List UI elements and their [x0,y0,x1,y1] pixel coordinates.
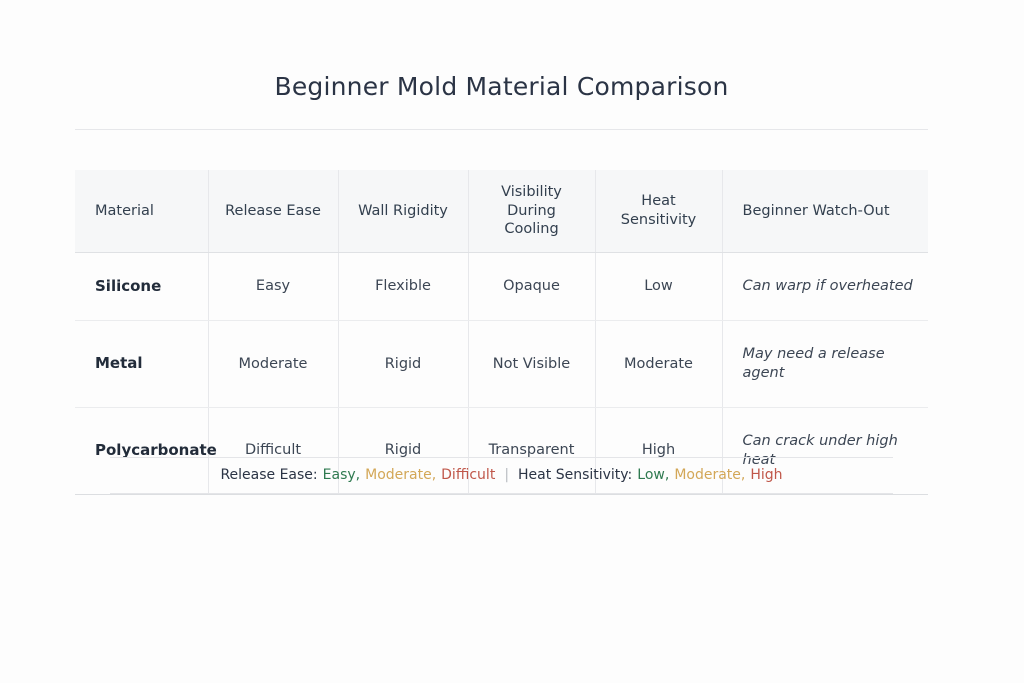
cell-wall-rigidity: Rigid [338,321,468,408]
legend-heat-sensitivity-label: Heat Sensitivity: [518,467,632,483]
legend-swatch-moderate-release: Moderate, [365,467,436,483]
column-header-heat-line1: Heat [641,193,675,209]
table-header-row: Material Release Ease Wall Rigidity Visi… [75,170,928,252]
comparison-table-container: Material Release Ease Wall Rigidity Visi… [75,170,928,495]
column-header-visibility-line1: Visibility [501,184,562,200]
cell-wall-rigidity: Flexible [338,252,468,321]
cell-material: Metal [75,321,208,408]
legend-separator: | [495,467,518,483]
cell-release-ease: Easy [208,252,338,321]
column-header-release-ease: Release Ease [208,170,338,252]
comparison-table: Material Release Ease Wall Rigidity Visi… [75,170,928,495]
legend-swatch-moderate-heat: Moderate, [674,467,745,483]
cell-heat-sensitivity: Moderate [595,321,722,408]
column-header-visibility-line2: During Cooling [504,203,558,238]
page-title: Beginner Mold Material Comparison [75,72,928,102]
legend-swatch-high: High [750,467,782,483]
column-header-wall-rigidity: Wall Rigidity [338,170,468,252]
cell-heat-sensitivity: Low [595,252,722,321]
cell-visibility: Not Visible [468,321,595,408]
legend-swatch-easy: Easy, [323,467,360,483]
column-header-heat-sensitivity: HeatSensitivity [595,170,722,252]
cell-watch-out: May need a release agent [722,321,928,408]
column-header-heat-line2: Sensitivity [621,212,697,228]
cell-visibility: Opaque [468,252,595,321]
cell-watch-out: Can warp if overheated [722,252,928,321]
column-header-visibility: VisibilityDuring Cooling [468,170,595,252]
legend: Release Ease:Easy,Moderate,Difficult|Hea… [110,457,893,494]
document-page: Beginner Mold Material Comparison Materi… [0,0,1024,683]
title-divider [75,129,928,130]
legend-swatch-difficult: Difficult [441,467,495,483]
table-row: Metal Moderate Rigid Not Visible Moderat… [75,321,928,408]
table-row: Silicone Easy Flexible Opaque Low Can wa… [75,252,928,321]
title-block: Beginner Mold Material Comparison [75,72,928,102]
column-header-watch-out: Beginner Watch-Out [722,170,928,252]
legend-release-ease-label: Release Ease: [220,467,317,483]
column-header-material: Material [75,170,208,252]
table-header: Material Release Ease Wall Rigidity Visi… [75,170,928,252]
cell-release-ease: Moderate [208,321,338,408]
cell-material: Silicone [75,252,208,321]
legend-swatch-low: Low, [637,467,669,483]
